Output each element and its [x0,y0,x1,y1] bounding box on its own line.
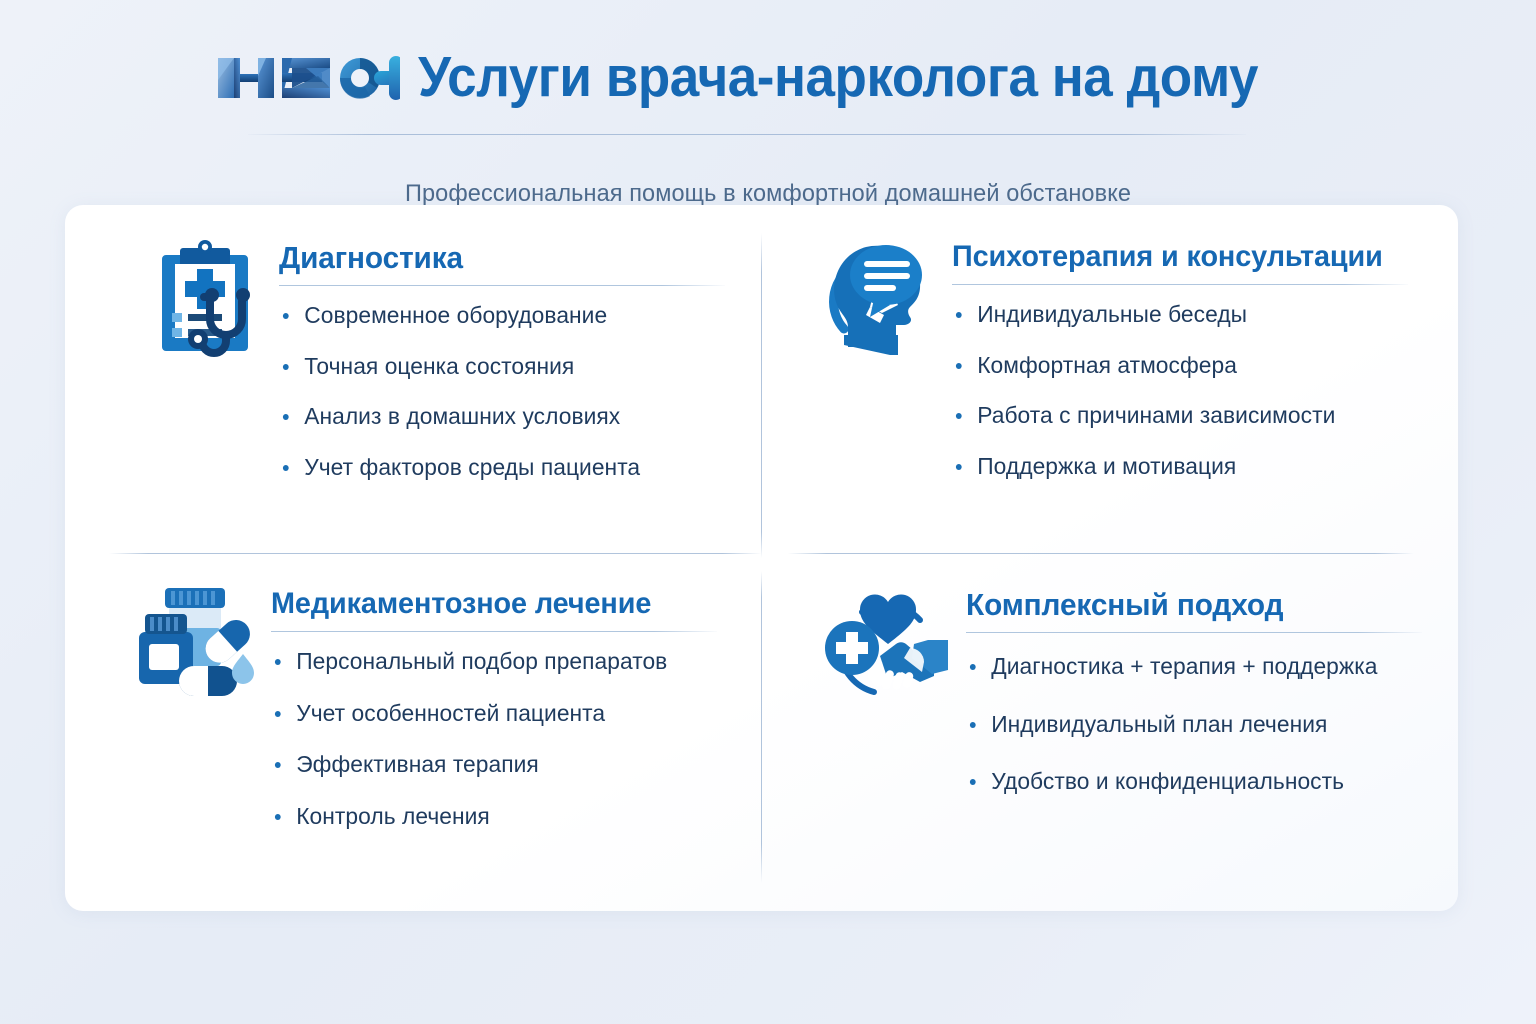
list-item: Учет особенностей пациента [271,702,712,726]
bullet-list: Персональный подбор препаратов Учет особ… [271,650,726,828]
service-card-psychotherapy[interactable]: Психотерапия и консультации Индивидуальн… [762,205,1459,558]
grid-divider-horizontal [109,553,1414,554]
page-subtitle: Профессиональная помощь в комфортной дом… [31,180,1506,208]
header-divider [248,134,1246,135]
card-title: Медикаментозное лечение [271,588,707,620]
logo-plus-icon [374,56,400,100]
clipboard-stethoscope-icon [143,235,267,363]
logo-letter-e [282,58,330,98]
list-item: Анализ в домашних условиях [279,405,712,429]
list-item: Современное оборудование [279,304,712,328]
list-item: Контроль лечения [271,805,712,829]
service-card-complex-approach[interactable]: Комплексный подход Диагностика + терапия… [762,558,1459,911]
card-body: Комплексный подход Диагностика + терапия… [966,582,1429,828]
services-panel: Диагностика Современное оборудование Точ… [65,205,1458,911]
card-title: Диагностика [279,241,708,274]
list-item: Учет факторов среды пациента [279,456,712,480]
card-body: Психотерапия и консультации Индивидуальн… [952,235,1429,478]
logo-letter-o [340,58,380,99]
neo-plus-logo [214,46,400,108]
pill-bottles-capsules-icon [127,582,265,710]
list-item: Эффективная терапия [271,753,712,777]
list-item: Работа с причинами зависимости [952,404,1414,428]
service-card-diagnostics[interactable]: Диагностика Современное оборудование Точ… [65,205,762,558]
header: Услуги врача-нарколога на дому Профессио… [0,38,1536,116]
list-item: Поддержка и мотивация [952,455,1414,479]
card-divider [279,285,725,286]
card-body: Диагностика Современное оборудование Точ… [279,235,726,479]
head-speech-bubble-icon [818,235,942,363]
logo-letter-n [218,58,274,98]
card-divider [271,631,717,632]
card-body: Медикаментозное лечение Персональный под… [271,582,726,856]
list-item: Диагностика + терапия + поддержка [966,655,1415,679]
card-divider [952,284,1408,285]
card-title: Психотерапия и консультации [952,241,1409,273]
bullet-list: Современное оборудование Точная оценка с… [279,304,726,479]
service-card-medication[interactable]: Медикаментозное лечение Персональный под… [65,558,762,911]
list-item: Персональный подбор препаратов [271,650,712,674]
list-item: Индивидуальные беседы [952,303,1414,327]
heart-handshake-cross-icon [818,582,958,710]
card-title: Комплексный подход [966,588,1410,621]
card-divider [966,632,1422,633]
list-item: Удобство и конфиденциальность [966,770,1415,794]
grid-divider-vertical [761,233,762,883]
bullet-list: Диагностика + терапия + поддержка Индиви… [966,655,1429,794]
list-item: Точная оценка состояния [279,355,712,379]
bullet-list: Индивидуальные беседы Комфортная атмосфе… [952,303,1429,478]
header-title-row: Услуги врача-нарколога на дому [0,38,1536,116]
page-title: Услуги врача-нарколога на дому [418,49,1258,106]
list-item: Индивидуальный план лечения [966,713,1415,737]
infographic-page: Услуги врача-нарколога на дому Профессио… [0,0,1536,1024]
list-item: Комфортная атмосфера [952,354,1414,378]
